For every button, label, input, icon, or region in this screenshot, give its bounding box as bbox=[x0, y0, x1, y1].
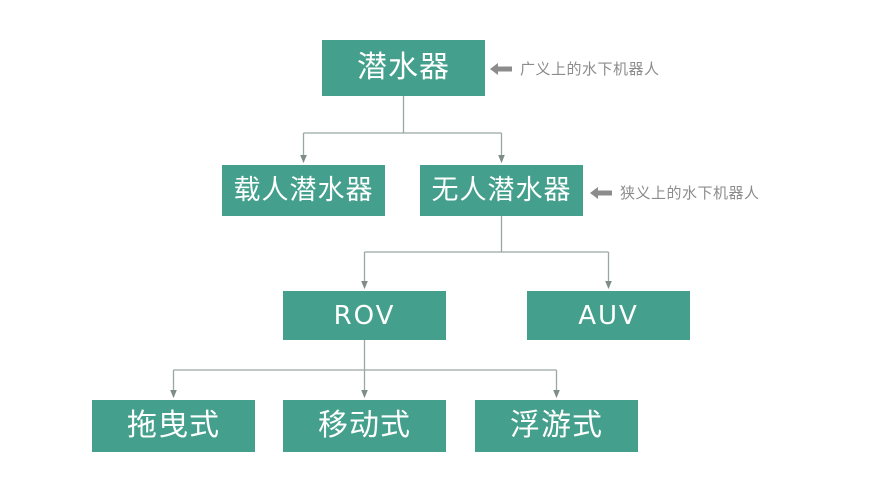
annotation-broad-sense: 广义上的水下机器人 bbox=[490, 58, 660, 79]
node-label: AUV bbox=[578, 303, 639, 329]
node-zairen-qianshuiqi[interactable]: 载人潜水器 bbox=[222, 165, 385, 216]
node-label: 载人潜水器 bbox=[234, 177, 374, 204]
edge-wuren-to-level3 bbox=[365, 216, 609, 285]
annotation-text: 狭义上的水下机器人 bbox=[620, 182, 760, 203]
node-label: 移动式 bbox=[318, 411, 411, 441]
node-label: 浮游式 bbox=[510, 411, 603, 441]
node-rov[interactable]: ROV bbox=[283, 291, 446, 340]
node-label: 潜水器 bbox=[357, 53, 450, 83]
annotation-text: 广义上的水下机器人 bbox=[520, 58, 660, 79]
arrow-left-icon bbox=[490, 62, 512, 76]
arrow-left-icon bbox=[590, 186, 612, 200]
node-fuyoushi[interactable]: 浮游式 bbox=[475, 400, 638, 452]
node-tuoyeshi[interactable]: 拖曳式 bbox=[92, 400, 255, 452]
node-auv[interactable]: AUV bbox=[527, 291, 690, 340]
edge-qianshuiqi-to-level2 bbox=[304, 96, 502, 159]
node-label: 拖曳式 bbox=[127, 411, 220, 441]
node-yidongshi[interactable]: 移动式 bbox=[283, 400, 446, 452]
node-label: 无人潜水器 bbox=[432, 177, 572, 204]
annotation-narrow-sense: 狭义上的水下机器人 bbox=[590, 182, 760, 203]
node-wuren-qianshuiqi[interactable]: 无人潜水器 bbox=[420, 165, 583, 216]
edge-rov-to-level4 bbox=[174, 340, 557, 394]
node-label: ROV bbox=[334, 303, 396, 329]
node-qianshuiqi[interactable]: 潜水器 bbox=[322, 40, 485, 96]
diagram-canvas: 潜水器 载人潜水器 无人潜水器 ROV AUV 拖曳式 移动式 浮游式 广义上的… bbox=[0, 0, 887, 500]
